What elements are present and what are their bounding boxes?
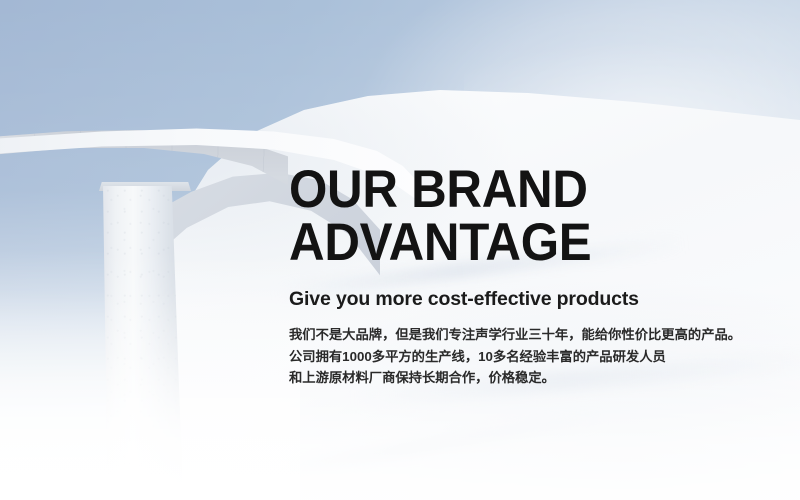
banner-text-block: OUR BRAND ADVANTAGE Give you more cost-e… [289, 163, 759, 389]
subtitle: Give you more cost-effective products [289, 287, 759, 311]
body-copy-line: 我们不是大品牌，但是我们专注声学行业三十年，能给你性价比更高的产品。 [289, 324, 759, 346]
headline-line-2: ADVANTAGE [289, 216, 726, 269]
body-copy-line: 和上游原材料厂商保持长期合作，价格稳定。 [289, 367, 759, 389]
body-copy: 我们不是大品牌，但是我们专注声学行业三十年，能给你性价比更高的产品。 公司拥有1… [289, 324, 759, 389]
body-copy-line: 公司拥有1000多平方的生产线，10多名经验丰富的产品研发人员 [289, 346, 759, 368]
headline-line-1: OUR BRAND [289, 163, 726, 216]
brand-advantage-banner: OUR BRAND ADVANTAGE Give you more cost-e… [0, 0, 800, 500]
